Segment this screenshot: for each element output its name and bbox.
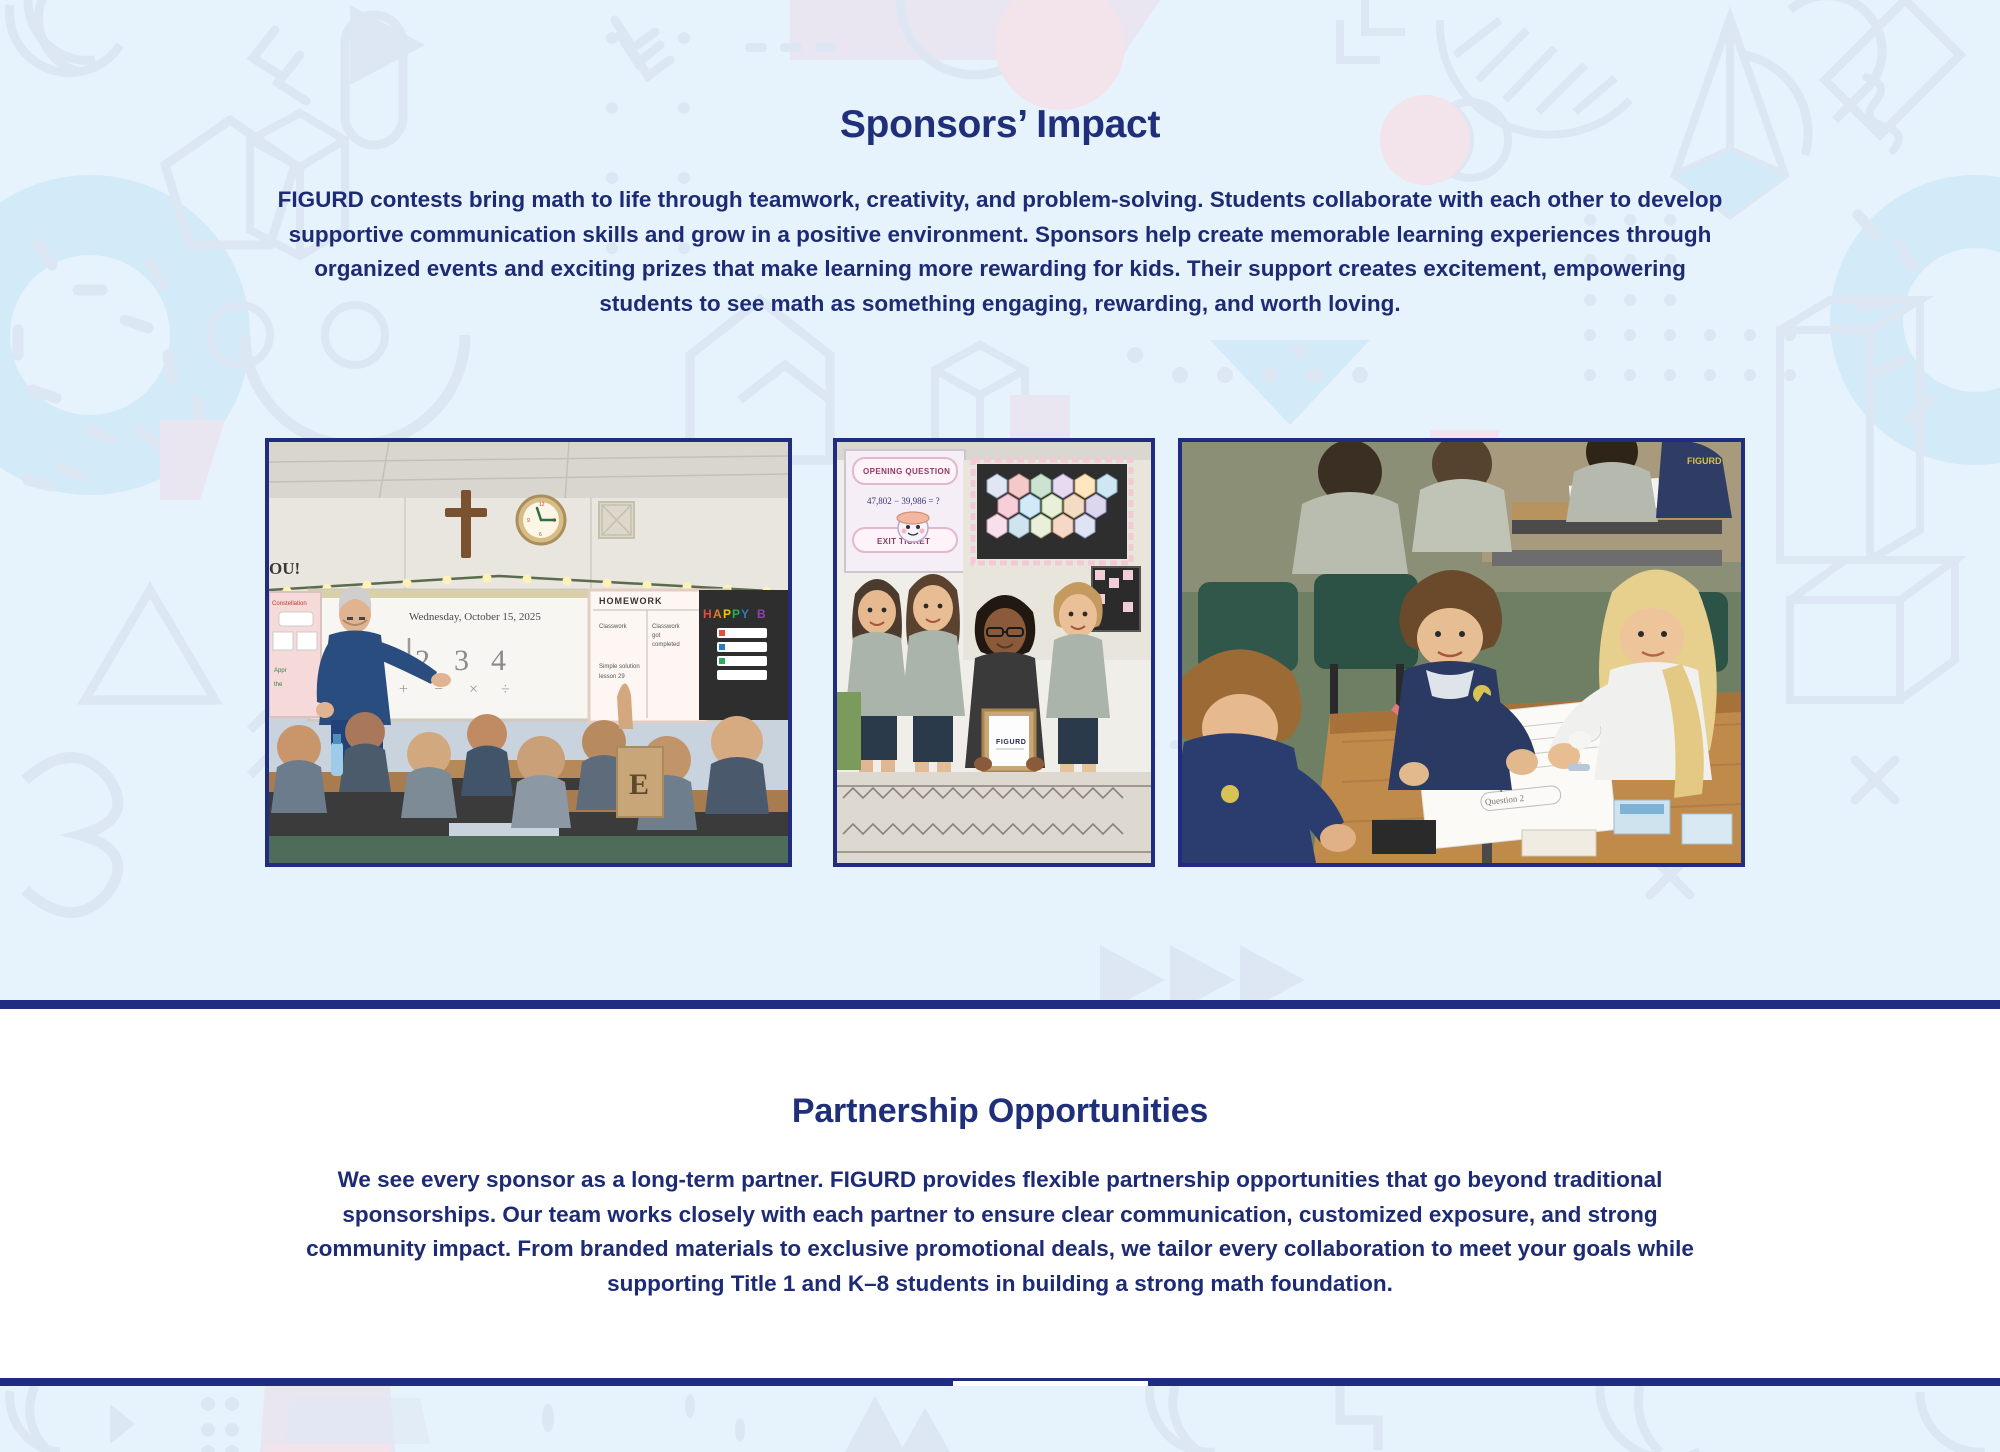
svg-text:got: got: [652, 633, 661, 639]
svg-text:Classwork: Classwork: [652, 624, 681, 630]
sponsorship-page: Sponsors’ Impact FIGURD contests bring m…: [0, 0, 2000, 1452]
svg-text:9: 9: [527, 518, 530, 524]
classroom-teacher-photo[interactable]: 123 69 OU!: [265, 438, 792, 867]
svg-text:12: 12: [539, 502, 545, 508]
svg-text:4: 4: [491, 644, 506, 677]
svg-text:Constellation: Constellation: [272, 601, 307, 607]
svg-text:Simple solution: Simple solution: [599, 664, 640, 670]
sponsors-impact-title: Sponsors’ Impact: [0, 103, 2000, 147]
svg-text:3: 3: [454, 644, 469, 677]
section-divider-top: [0, 1000, 2000, 1009]
svg-text:Classwork: Classwork: [599, 624, 628, 630]
svg-text:FIGURD: FIGURD: [996, 739, 1026, 746]
svg-text:×: ×: [469, 681, 478, 698]
sponsors-impact-section: Sponsors’ Impact FIGURD contests bring m…: [0, 0, 2000, 1000]
footer-strip: [0, 1386, 2000, 1452]
sponsors-impact-photo-gallery: 123 69 OU!: [0, 438, 2000, 868]
svg-text:P: P: [723, 607, 731, 621]
svg-text:lesson 29: lesson 29: [599, 674, 625, 680]
svg-text:the: the: [274, 682, 283, 688]
svg-text:B: B: [757, 607, 766, 621]
sponsors-impact-paragraph: FIGURD contests bring math to life throu…: [268, 183, 1732, 321]
svg-text:47,802 − 39,986 = ?: 47,802 − 39,986 = ?: [867, 496, 940, 506]
students-with-figurd-award-photo[interactable]: OPENING QUESTION 47,802 − 39,986 = ? EXI…: [833, 438, 1155, 867]
svg-text:OPENING QUESTION: OPENING QUESTION: [863, 467, 950, 476]
svg-text:Y: Y: [741, 607, 749, 621]
partnership-opportunities-title: Partnership Opportunities: [0, 1092, 2000, 1131]
svg-text:H: H: [703, 607, 712, 621]
svg-text:HOMEWORK: HOMEWORK: [599, 596, 663, 606]
svg-text:3: 3: [553, 518, 556, 524]
svg-text:Appr: Appr: [274, 668, 287, 674]
svg-text:FIGURD: FIGURD: [1687, 456, 1722, 466]
svg-text:E: E: [629, 768, 649, 801]
svg-text:A: A: [713, 607, 722, 621]
svg-text:6: 6: [539, 532, 542, 538]
partnership-opportunities-paragraph: We see every sponsor as a long-term part…: [290, 1163, 1710, 1301]
svg-text:P: P: [732, 607, 740, 621]
svg-text:÷: ÷: [501, 681, 510, 698]
svg-text:+: +: [399, 681, 408, 698]
students-working-together-photo[interactable]: FIGURD: [1178, 438, 1745, 867]
footer-decorative-pattern: [0, 1386, 2000, 1452]
svg-text:completed: completed: [652, 642, 680, 648]
svg-text:Wednesday, October 15, 2025: Wednesday, October 15, 2025: [409, 611, 541, 623]
svg-text:OU!: OU!: [269, 559, 300, 578]
